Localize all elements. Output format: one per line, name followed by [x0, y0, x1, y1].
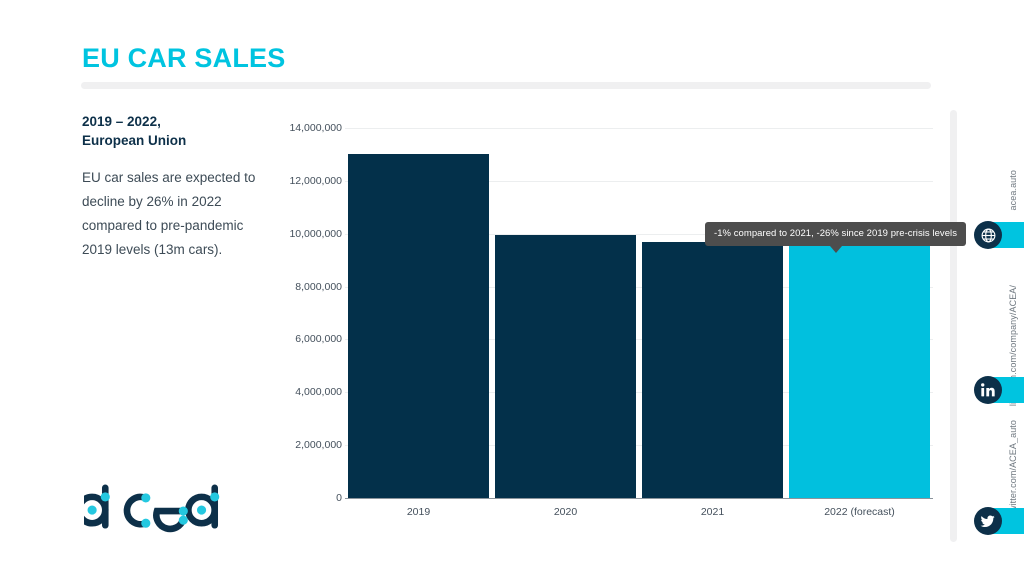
y-axis-tick-label: 14,000,000: [272, 122, 342, 134]
bar-2021[interactable]: [642, 242, 783, 498]
y-axis-tick-label: 8,000,000: [272, 281, 342, 293]
x-axis-line: [345, 498, 933, 499]
page-title: EU CAR SALES: [82, 43, 285, 74]
bar-2019[interactable]: [348, 154, 489, 498]
x-axis-tick-label: 2021: [639, 506, 786, 518]
plot-area: [345, 128, 933, 498]
bar-slot: [345, 128, 492, 498]
y-axis-tick-label: 12,000,000: [272, 175, 342, 187]
acea-logo: [84, 465, 236, 545]
chart-tooltip: -1% compared to 2021, -26% since 2019 pr…: [705, 222, 966, 246]
tooltip-arrow: [830, 246, 842, 253]
globe-icon[interactable]: [974, 221, 1002, 249]
bar-slot: [492, 128, 639, 498]
x-axis-tick-label: 2019: [345, 506, 492, 518]
chart-subtitle: 2019 – 2022, European Union: [82, 112, 262, 150]
x-axis-tick-label: 2022 (forecast): [786, 506, 933, 518]
bar-slot: [786, 128, 933, 498]
card-frame-top-edge: [81, 82, 931, 89]
y-axis-tick-label: 10,000,000: [272, 228, 342, 240]
card-frame-right-edge: [950, 110, 957, 542]
bar-slot: [639, 128, 786, 498]
tooltip-text: -1% compared to 2021, -26% since 2019 pr…: [714, 228, 957, 239]
social-sidebar: acea.autolinkedin.com/company/ACEA/twitt…: [976, 0, 1024, 576]
bar-2022-forecast-[interactable]: [789, 244, 930, 498]
y-axis-tick-label: 6,000,000: [272, 333, 342, 345]
x-axis-tick-label: 2020: [492, 506, 639, 518]
bar-2020[interactable]: [495, 235, 636, 498]
chart-description: EU car sales are expected to decline by …: [82, 166, 262, 262]
left-text-column: 2019 – 2022, European Union EU car sales…: [82, 112, 262, 262]
y-axis-tick-label: 2,000,000: [272, 439, 342, 451]
social-label-globe[interactable]: acea.auto: [1008, 170, 1018, 210]
linkedin-icon[interactable]: [974, 376, 1002, 404]
y-axis-tick-label: 0: [272, 492, 342, 504]
bar-chart: 02,000,0004,000,0006,000,0008,000,00010,…: [276, 128, 936, 526]
twitter-icon[interactable]: [974, 507, 1002, 535]
y-axis-tick-label: 4,000,000: [272, 386, 342, 398]
social-label-twitter[interactable]: twitter.com/ACEA_auto: [1008, 420, 1018, 515]
